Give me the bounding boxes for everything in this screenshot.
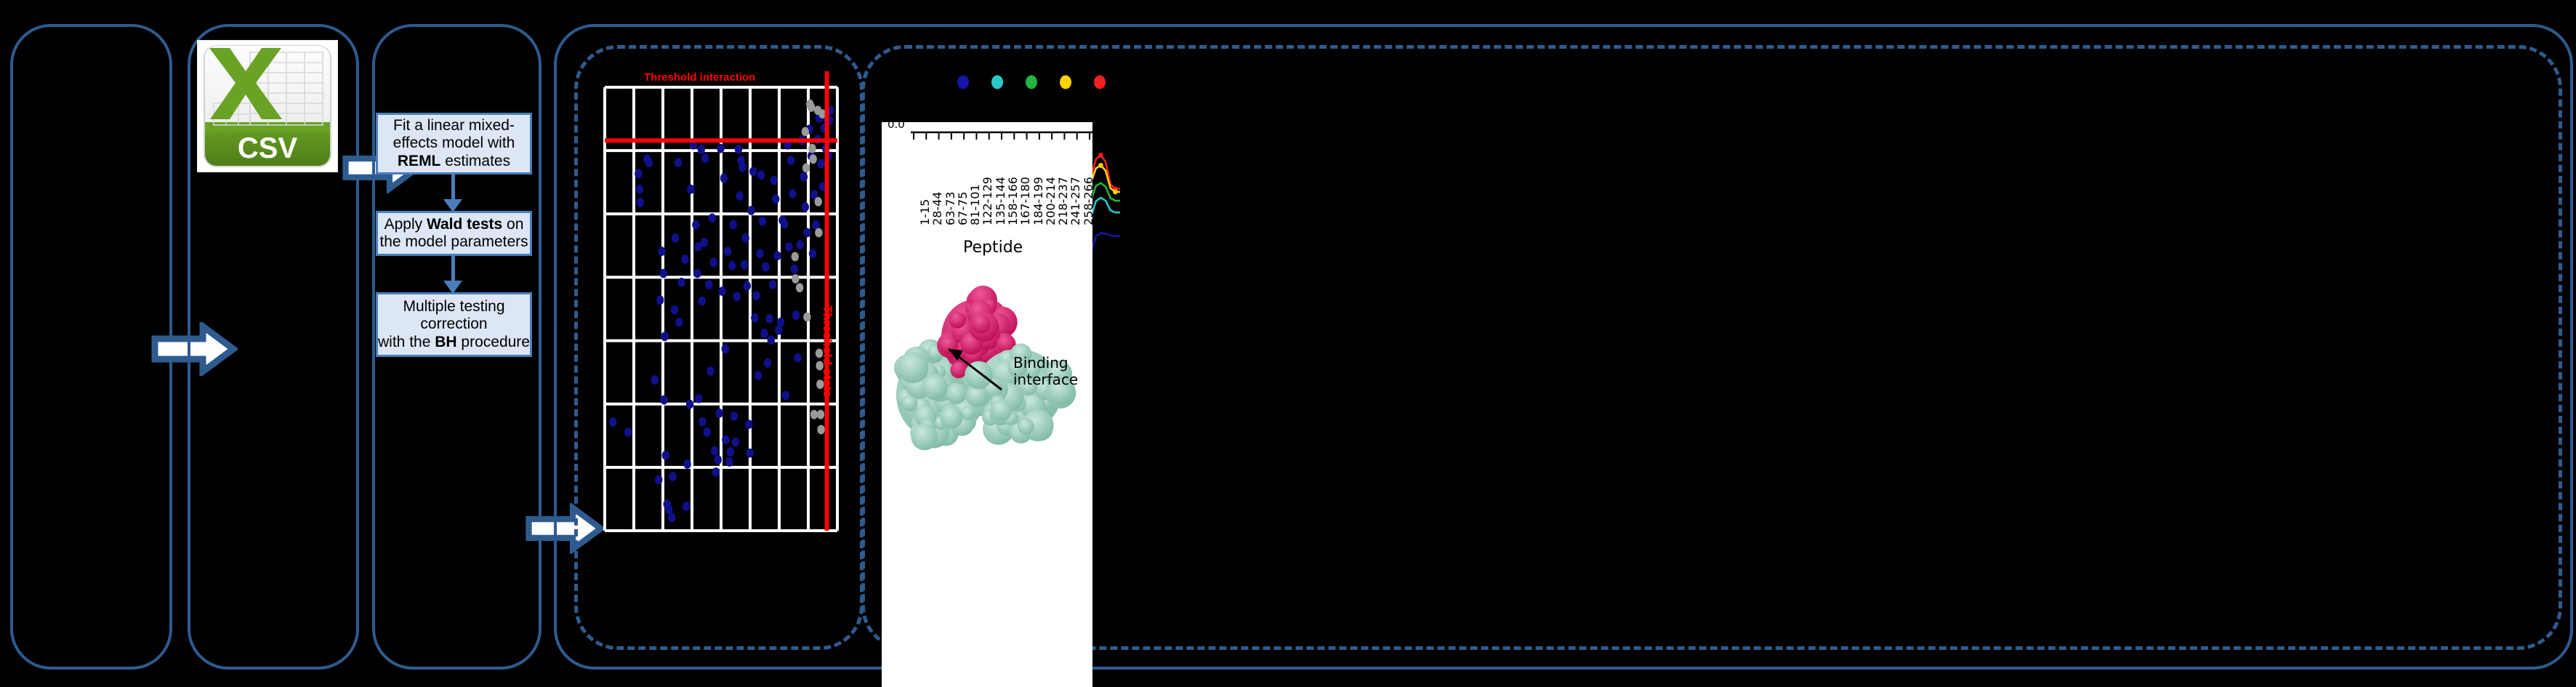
peptide-protein-figure: 0.0 1-1528-4463-7367-7581-101122-129135-… [882, 122, 1092, 687]
binding-interface-line-1: Binding [1013, 355, 1078, 371]
fit-model-box: Fit a linear mixed- effects model with R… [376, 113, 532, 174]
wald-tests-line-1: Apply Wald tests on [385, 216, 524, 233]
peptide-tick-label: 28-44 [930, 192, 944, 226]
diagram-canvas: CSV Fit a linear mixed- effects model wi… [0, 0, 2576, 687]
peptide-tick-label: 135-144 [994, 177, 1007, 225]
multiple-testing-line-1: Multiple testing [403, 298, 504, 316]
peptide-tick-label: 184-199 [1031, 177, 1045, 225]
csv-file-icon: CSV [198, 41, 337, 172]
peptide-tick-label: 122-129 [981, 177, 994, 225]
fit-model-line-3: REML estimates [398, 153, 510, 170]
peptide-tick-label: 67-75 [956, 192, 970, 226]
multiple-testing-line-2: correction [420, 316, 487, 333]
interaction-scatter-plot: Threshold interaction Threshold state [597, 65, 845, 538]
stage-1-panel [10, 24, 172, 670]
fit-model-line-1: Fit a linear mixed- [393, 117, 515, 134]
csv-icon-label: CSV [238, 132, 298, 164]
peptide-tick-label: 63-73 [943, 192, 957, 226]
peptide-tick-label: 167-180 [1018, 177, 1032, 225]
multiple-testing-box: Multiple testing correction with the BH … [376, 292, 532, 357]
binding-interface-annotation: Binding interface [1013, 355, 1078, 388]
fit-model-line-2: effects model with [393, 134, 515, 152]
connector-2 [451, 256, 455, 284]
peptide-x-axis-title: Peptide [963, 238, 1023, 257]
binding-interface-line-2: interface [1013, 371, 1078, 388]
peptide-tick-label: 200-214 [1044, 177, 1058, 225]
wald-tests-box: Apply Wald tests on the model parameters [376, 211, 532, 256]
wald-tests-line-2: the model parameters [379, 233, 528, 251]
peptide-tick-label: 258-266 [1082, 177, 1092, 225]
connector-1 [451, 174, 455, 202]
threshold-state-label: Threshold state [820, 305, 834, 398]
peptide-tick-label: 241-257 [1068, 177, 1082, 225]
multiple-testing-line-3: with the BH procedure [378, 334, 530, 351]
